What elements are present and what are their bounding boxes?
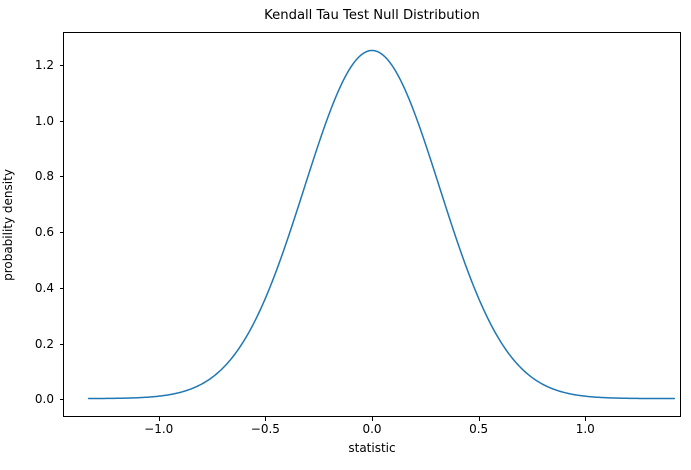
y-tick-mark <box>60 288 64 289</box>
y-tick-label: 0.0 <box>35 392 54 406</box>
x-tick-mark <box>372 417 373 421</box>
chart-title: Kendall Tau Test Null Distribution <box>63 8 681 24</box>
y-tick-mark <box>60 65 64 66</box>
density-curve-svg <box>64 33 680 416</box>
matplotlib-figure: Kendall Tau Test Null Distribution −1.0−… <box>0 0 691 470</box>
null-distribution-curve <box>89 50 675 398</box>
plot-area <box>63 32 681 417</box>
x-axis-label: statistic <box>63 441 681 455</box>
plot-canvas <box>64 33 680 416</box>
x-tick-label: 0.0 <box>362 422 381 436</box>
y-tick-mark <box>60 399 64 400</box>
y-tick-label: 0.4 <box>35 281 54 295</box>
y-tick-label: 0.2 <box>35 337 54 351</box>
x-tick-mark <box>479 417 480 421</box>
y-tick-mark <box>60 232 64 233</box>
x-tick-label: 1.0 <box>576 422 595 436</box>
y-tick-label: 1.0 <box>35 114 54 128</box>
x-tick-label: −1.0 <box>144 422 173 436</box>
x-tick-mark <box>585 417 586 421</box>
y-axis-label-text: probability density <box>1 169 15 281</box>
x-tick-mark <box>159 417 160 421</box>
y-axis-label: probability density <box>0 32 16 417</box>
y-tick-label: 1.2 <box>35 58 54 72</box>
x-tick-label: −0.5 <box>251 422 280 436</box>
y-tick-mark <box>60 121 64 122</box>
y-tick-label: 0.8 <box>35 169 54 183</box>
y-tick-mark <box>60 344 64 345</box>
x-tick-label: 0.5 <box>469 422 488 436</box>
y-tick-label: 0.6 <box>35 225 54 239</box>
x-tick-mark <box>265 417 266 421</box>
y-tick-mark <box>60 176 64 177</box>
